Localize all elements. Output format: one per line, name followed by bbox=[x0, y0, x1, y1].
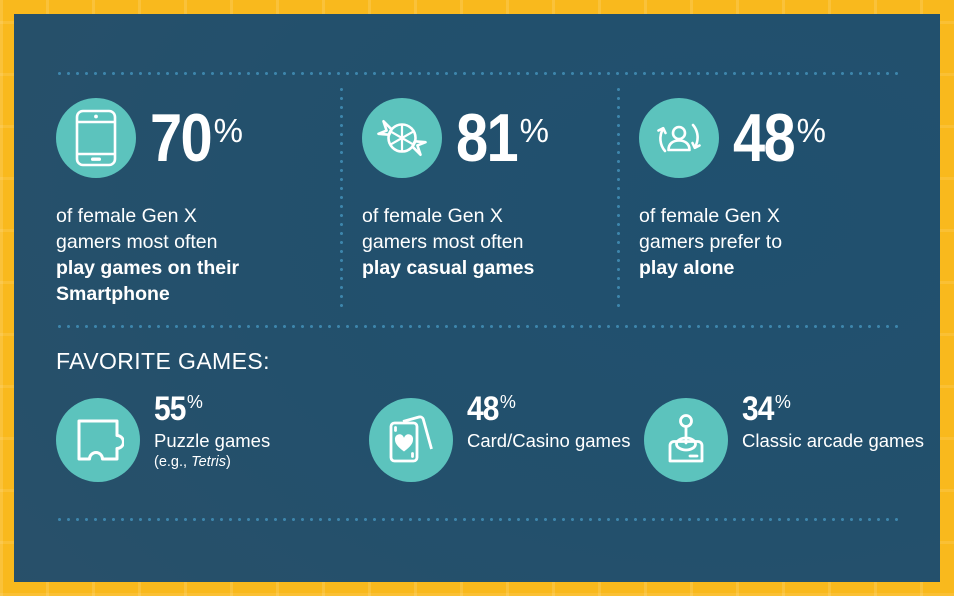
percent-symbol: % bbox=[187, 393, 203, 411]
stat-emphasis: play alone bbox=[639, 257, 734, 279]
statistics-row: 70 % of female Gen X gamers most often p… bbox=[14, 90, 940, 318]
stat-number: 81 bbox=[456, 109, 517, 167]
stat-header: 70 % bbox=[56, 90, 318, 186]
favorite-label: Puzzle games bbox=[154, 430, 270, 453]
favorite-note: (e.g., Tetris) bbox=[154, 454, 270, 471]
favorite-body: 55 % Puzzle games (e.g., Tetris) bbox=[154, 392, 270, 471]
note-italic: Tetris bbox=[191, 454, 226, 470]
stat-line-1: of female Gen X bbox=[362, 205, 503, 227]
favorite-number: 55 bbox=[154, 392, 186, 426]
note-suffix: ) bbox=[226, 454, 231, 470]
play-alone-icon bbox=[639, 98, 719, 178]
percent-symbol: % bbox=[775, 393, 791, 411]
infographic-canvas: 70 % of female Gen X gamers most often p… bbox=[14, 14, 940, 582]
favorite-body: 34 % Classic arcade games bbox=[742, 392, 924, 453]
favorites-heading: FAVORITE GAMES: bbox=[56, 348, 270, 375]
stat-value: 70 % bbox=[150, 109, 243, 167]
favorite-item-classic-arcade: 34 % Classic arcade games bbox=[644, 392, 924, 482]
infographic-poster: 70 % of female Gen X gamers most often p… bbox=[0, 0, 954, 596]
stat-number: 70 bbox=[150, 109, 211, 167]
stat-value: 81 % bbox=[456, 109, 549, 167]
stat-block-play-alone: 48 % of female Gen X gamers prefer to pl… bbox=[639, 90, 901, 282]
favorites-row: 55 % Puzzle games (e.g., Tetris) bbox=[14, 392, 940, 502]
favorite-value: 48 % bbox=[467, 392, 631, 426]
favorite-label: Classic arcade games bbox=[742, 430, 924, 453]
favorite-item-card-casino: 48 % Card/Casino games bbox=[369, 392, 631, 482]
stat-line-1: of female Gen X bbox=[639, 205, 780, 227]
favorite-item-puzzle: 55 % Puzzle games (e.g., Tetris) bbox=[56, 392, 270, 482]
stat-description: of female Gen X gamers prefer to play al… bbox=[639, 204, 887, 282]
divider-bottom bbox=[58, 518, 900, 521]
stat-block-smartphone: 70 % of female Gen X gamers most often p… bbox=[56, 90, 318, 308]
stat-header: 48 % bbox=[639, 90, 901, 186]
percent-symbol: % bbox=[214, 114, 243, 147]
stat-description: of female Gen X gamers most often play c… bbox=[362, 204, 610, 282]
divider-top bbox=[58, 72, 900, 75]
stat-emphasis: play games on their Smartphone bbox=[56, 257, 239, 305]
stat-number: 48 bbox=[733, 109, 794, 167]
stat-line-2: gamers prefer to bbox=[639, 231, 782, 253]
divider-middle bbox=[58, 325, 900, 328]
stat-line-2: gamers most often bbox=[56, 231, 217, 253]
percent-symbol: % bbox=[500, 393, 516, 411]
note-prefix: (e.g., bbox=[154, 454, 191, 470]
favorite-number: 34 bbox=[742, 392, 774, 426]
candy-icon bbox=[362, 98, 442, 178]
percent-symbol: % bbox=[520, 114, 549, 147]
stat-description: of female Gen X gamers most often play g… bbox=[56, 204, 304, 308]
stat-header: 81 % bbox=[362, 90, 624, 186]
favorite-body: 48 % Card/Casino games bbox=[467, 392, 631, 453]
favorite-value: 55 % bbox=[154, 392, 270, 426]
stat-block-casual-games: 81 % of female Gen X gamers most often p… bbox=[362, 90, 624, 282]
favorite-number: 48 bbox=[467, 392, 499, 426]
favorite-value: 34 % bbox=[742, 392, 924, 426]
favorite-label: Card/Casino games bbox=[467, 430, 631, 453]
joystick-icon bbox=[644, 398, 728, 482]
percent-symbol: % bbox=[797, 114, 826, 147]
smartphone-icon bbox=[56, 98, 136, 178]
puzzle-piece-icon bbox=[56, 398, 140, 482]
stat-emphasis: play casual games bbox=[362, 257, 534, 279]
playing-cards-icon bbox=[369, 398, 453, 482]
stat-line-2: gamers most often bbox=[362, 231, 523, 253]
stat-value: 48 % bbox=[733, 109, 826, 167]
stat-line-1: of female Gen X bbox=[56, 205, 197, 227]
